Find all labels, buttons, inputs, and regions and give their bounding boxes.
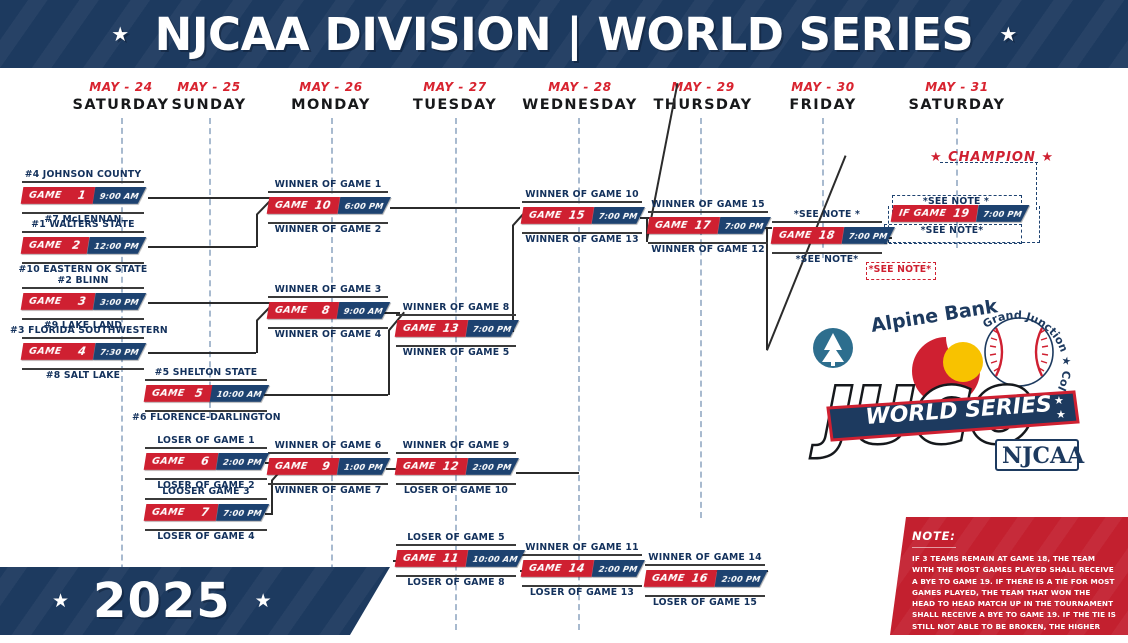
game-4-number: 4 xyxy=(77,345,87,358)
game-9-label: GAME xyxy=(274,461,308,472)
game-13-label: GAME xyxy=(402,323,436,334)
game-7-label: GAME xyxy=(151,507,185,518)
game-3-name: GAME 3 xyxy=(21,293,96,310)
rule-g12-top xyxy=(396,452,516,454)
logo-sponsor-text: Alpine Bank xyxy=(869,300,999,337)
game-16-number: 16 xyxy=(691,572,709,585)
game-12-top-slot: WINNER OF GAME 9 xyxy=(396,440,516,451)
game-6-time: 2:00 PM xyxy=(216,453,269,470)
logo-ribbon-star-1: ★ xyxy=(1054,395,1064,407)
game-8-time: 9:00 AM xyxy=(337,302,391,319)
game-3-time: 3:00 PM xyxy=(93,293,146,310)
game-18-pill[interactable]: GAME 18 7:00 PM xyxy=(771,227,884,244)
game-17-name: GAME 17 xyxy=(647,217,721,234)
game-17-label: GAME xyxy=(654,220,688,231)
game-1-top-slot: #4 JOHNSON COUNTY xyxy=(22,169,144,180)
game-5-bottom-slot: #6 FLORENCE-DARLINGTON xyxy=(132,412,280,423)
connector-v-g8 xyxy=(256,320,258,353)
logo-svg: Alpine Bank Grand Junction ★ Colorado JU… xyxy=(806,300,1096,475)
footer-star-right: ★ xyxy=(255,590,272,613)
game-11-number: 11 xyxy=(442,552,460,565)
game-13-name: GAME 13 xyxy=(395,320,469,337)
game-9-top-slot: WINNER OF GAME 6 xyxy=(268,440,388,451)
game-9-pill[interactable]: GAME 9 1:00 PM xyxy=(267,458,390,475)
game-10-name: GAME 10 xyxy=(267,197,341,214)
game-8-bottom-slot: WINNER OF GAME 4 xyxy=(268,329,388,340)
game-8-label: GAME xyxy=(274,305,308,316)
game-8-number: 8 xyxy=(321,304,331,317)
game-3-pill[interactable]: GAME 3 3:00 PM xyxy=(21,293,146,310)
rule-g17-top xyxy=(648,211,768,213)
page-title-row: ★ NJCAA DIVISION | WORLD SERIES ★ xyxy=(0,0,1128,68)
game-16-top-slot: WINNER OF GAME 14 xyxy=(645,552,765,563)
game-4-pill[interactable]: GAME 4 7:30 PM xyxy=(21,343,146,360)
game-6-label: GAME xyxy=(151,456,185,467)
day-name: FRIDAY xyxy=(748,97,898,113)
game-7-time: 7:00 PM xyxy=(216,504,269,521)
connector-v-g10 xyxy=(256,214,258,247)
rule-g18-top xyxy=(772,221,882,223)
day-date: MAY - 30 xyxy=(748,80,898,94)
day-header-friday-30: MAY - 30 FRIDAY xyxy=(748,80,898,113)
rule-g13-top xyxy=(396,314,516,316)
game-7-top-slot: LOOSER GAME 3 xyxy=(145,486,267,497)
game-17-number: 17 xyxy=(694,219,712,232)
tree-trunk-icon xyxy=(831,360,835,366)
game-2-name: GAME 2 xyxy=(21,237,90,254)
rule-g6-top xyxy=(145,447,267,449)
game-2-label: GAME xyxy=(28,240,62,251)
rule-g3-top xyxy=(22,287,144,289)
game-13-top-slot: WINNER OF GAME 8 xyxy=(396,302,516,313)
game-14-bottom-slot: LOSER OF GAME 13 xyxy=(522,587,642,598)
game-7-name: GAME 7 xyxy=(144,504,219,521)
game-11-label: GAME xyxy=(402,553,436,564)
game-14-label: GAME xyxy=(528,563,562,574)
game-18-number: 18 xyxy=(818,229,836,242)
connector-g10-g15 xyxy=(390,207,520,209)
game-19-name: IF GAME 19 xyxy=(891,205,979,222)
note-body: IF 3 TEAMS REMAIN AT GAME 18, THE TEAM W… xyxy=(912,553,1116,643)
note-box: NOTE: IF 3 TEAMS REMAIN AT GAME 18, THE … xyxy=(890,517,1128,635)
connector-g5-g13 xyxy=(264,394,388,396)
game-6-top-slot: LOSER OF GAME 1 xyxy=(145,435,267,446)
game-17-pill[interactable]: GAME 17 7:00 PM xyxy=(647,217,770,234)
game-12-bottom-slot: LOSER OF GAME 10 xyxy=(396,485,516,496)
game-14-top-slot: WINNER OF GAME 11 xyxy=(522,542,642,553)
day-divider-3 xyxy=(331,118,333,630)
game-12-time: 2:00 PM xyxy=(465,458,518,475)
game-17-time: 7:00 PM xyxy=(717,217,770,234)
rule-g5-top xyxy=(145,379,267,381)
game-19-label: IF GAME xyxy=(898,208,947,219)
game-16-name: GAME 16 xyxy=(644,570,718,587)
connector-g2-g10 xyxy=(148,246,256,248)
game-19-time: 7:00 PM xyxy=(976,205,1029,222)
game-16-time: 2:00 PM xyxy=(714,570,767,587)
rule-g15-top xyxy=(522,201,642,203)
note-title: NOTE: xyxy=(912,529,956,548)
game-8-name: GAME 8 xyxy=(267,302,340,319)
game-2-number: 2 xyxy=(71,239,81,252)
game-13-bottom-slot: WINNER OF GAME 5 xyxy=(396,347,516,358)
game-10-top-slot: WINNER OF GAME 1 xyxy=(268,179,388,190)
day-date: MAY - 31 xyxy=(882,80,1032,94)
page-title: NJCAA DIVISION | WORLD SERIES xyxy=(155,8,974,61)
game-8-top-slot: WINNER OF GAME 3 xyxy=(268,284,388,295)
day-name: SATURDAY xyxy=(882,97,1032,113)
game-12-number: 12 xyxy=(442,460,460,473)
game-13-number: 13 xyxy=(442,322,460,335)
connector-v-g18-lower xyxy=(766,240,768,350)
game-4-time: 7:30 PM xyxy=(93,343,146,360)
game-15-bottom-slot: WINNER OF GAME 13 xyxy=(522,234,642,245)
game-5-time: 10:00 AM xyxy=(210,385,270,402)
game-16-pill[interactable]: GAME 16 2:00 PM xyxy=(644,570,767,587)
game-10-label: GAME xyxy=(274,200,308,211)
game-12-name: GAME 12 xyxy=(395,458,469,475)
game-4-top-slot: #3 FLORIDA SOUTHWESTERN xyxy=(10,325,156,336)
game-12-label: GAME xyxy=(402,461,436,472)
game-10-time: 6:00 PM xyxy=(337,197,390,214)
game-19-pill[interactable]: IF GAME 19 7:00 PM xyxy=(891,205,1022,222)
rule-g4-top xyxy=(22,337,144,339)
star-icon-left: ★ xyxy=(111,24,128,44)
game-2-time: 12:00 PM xyxy=(87,237,146,254)
game-10-number: 10 xyxy=(314,199,332,212)
game-15-time: 7:00 PM xyxy=(591,207,644,224)
game-1-pill[interactable]: GAME 1 9:00 AM xyxy=(21,187,146,204)
rule-g14-top xyxy=(522,554,642,556)
game-18-label: GAME xyxy=(778,230,812,241)
rule-g16-top xyxy=(645,564,765,566)
game-5-name: GAME 5 xyxy=(144,385,213,402)
rule-g8-top xyxy=(268,296,388,298)
game-18-top-slot: *SEE NOTE * xyxy=(772,209,882,220)
game-14-name: GAME 14 xyxy=(521,560,595,577)
game-19-number: 19 xyxy=(952,207,970,220)
game-3-label: GAME xyxy=(28,296,62,307)
game-7-bottom-slot: LOSER OF GAME 4 xyxy=(145,531,267,542)
game-15-pill[interactable]: GAME 15 7:00 PM xyxy=(521,207,644,224)
game-12-pill[interactable]: GAME 12 2:00 PM xyxy=(395,458,518,475)
rule-g7-top xyxy=(145,498,267,500)
rule-g1-top xyxy=(22,181,144,183)
game-1-name: GAME 1 xyxy=(21,187,96,204)
see-note-extra: *SEE NOTE* xyxy=(866,264,934,275)
logo-ribbon-star-2: ★ xyxy=(1056,409,1066,421)
rule-g2-top xyxy=(22,231,144,233)
game-11-top-slot: LOSER OF GAME 5 xyxy=(396,532,516,543)
game-8-pill[interactable]: GAME 8 9:00 AM xyxy=(267,302,390,319)
connector-g4-g8 xyxy=(148,352,256,354)
rule-g10-top xyxy=(268,191,388,193)
game-14-time: 2:00 PM xyxy=(591,560,644,577)
game-2-pill[interactable]: GAME 2 12:00 PM xyxy=(21,237,146,254)
game-16-bottom-slot: LOSER OF GAME 15 xyxy=(645,597,765,608)
game-15-name: GAME 15 xyxy=(521,207,595,224)
champion-dash-v xyxy=(1036,162,1038,210)
rule-g9-top xyxy=(268,452,388,454)
game-3-top-slot: #2 BLINN xyxy=(22,275,144,286)
juco-world-series-logo: Alpine Bank Grand Junction ★ Colorado JU… xyxy=(806,300,1096,475)
connector-g1-g10 xyxy=(148,197,270,199)
game-19-bottom-slot: *SEE NOTE* xyxy=(884,225,1020,236)
game-6-name: GAME 6 xyxy=(144,453,219,470)
connector-v-g13 xyxy=(388,330,390,395)
game-13-time: 7:00 PM xyxy=(465,320,518,337)
game-1-time: 9:00 AM xyxy=(93,187,147,204)
game-1-number: 1 xyxy=(77,189,87,202)
day-divider-6 xyxy=(700,118,702,518)
footer-star-left: ★ xyxy=(52,590,69,613)
champion-label: ★ CHAMPION ★ xyxy=(930,150,1054,165)
game-17-top-slot: WINNER OF GAME 15 xyxy=(648,199,768,210)
game-5-number: 5 xyxy=(194,387,204,400)
game-4-name: GAME 4 xyxy=(21,343,96,360)
game-14-number: 14 xyxy=(568,562,586,575)
game-9-number: 9 xyxy=(321,460,331,473)
header-banner: ★ NJCAA DIVISION | WORLD SERIES ★ xyxy=(0,0,1128,68)
connector-g3-g8 xyxy=(148,302,270,304)
logo-njcaa-text: NJCAA xyxy=(1002,443,1085,469)
game-5-pill[interactable]: GAME 5 10:00 AM xyxy=(144,385,269,402)
game-11-bottom-slot: LOSER OF GAME 8 xyxy=(396,577,516,588)
game-15-top-slot: WINNER OF GAME 10 xyxy=(522,189,642,200)
game-15-label: GAME xyxy=(528,210,562,221)
game-1-label: GAME xyxy=(28,190,62,201)
game-11-pill[interactable]: GAME 11 10:00 AM xyxy=(395,550,518,567)
game-7-pill[interactable]: GAME 7 7:00 PM xyxy=(144,504,269,521)
game-11-time: 10:00 AM xyxy=(465,550,525,567)
game-4-bottom-slot: #8 SALT LAKE xyxy=(22,370,144,381)
game-10-pill[interactable]: GAME 10 6:00 PM xyxy=(267,197,390,214)
star-icon-right: ★ xyxy=(999,24,1016,44)
game-5-top-slot: #5 SHELTON STATE xyxy=(145,367,267,378)
game-18-name: GAME 18 xyxy=(771,227,845,244)
footer-banner: ★ 2025 ★ xyxy=(0,567,390,635)
connector-g12-up xyxy=(516,472,579,474)
game-4-label: GAME xyxy=(28,346,62,357)
game-9-name: GAME 9 xyxy=(267,458,340,475)
game-13-pill[interactable]: GAME 13 7:00 PM xyxy=(395,320,518,337)
game-10-bottom-slot: WINNER OF GAME 2 xyxy=(268,224,388,235)
day-header-saturday-31: MAY - 31 SATURDAY xyxy=(882,80,1032,113)
game-9-time: 1:00 PM xyxy=(337,458,390,475)
game-6-number: 6 xyxy=(200,455,210,468)
game-5-label: GAME xyxy=(151,388,185,399)
game-2-bottom-slot: #10 EASTERN OK STATE xyxy=(14,264,152,275)
rule-g11-top xyxy=(396,544,516,546)
game-17-bottom-slot: WINNER OF GAME 12 xyxy=(648,244,768,255)
game-7-number: 7 xyxy=(200,506,210,519)
game-16-label: GAME xyxy=(651,573,685,584)
game-14-pill[interactable]: GAME 14 2:00 PM xyxy=(521,560,644,577)
game-9-bottom-slot: WINNER OF GAME 7 xyxy=(268,485,388,496)
game-15-number: 15 xyxy=(568,209,586,222)
footer-year: 2025 xyxy=(93,573,231,629)
game-2-top-slot: #1 WALTERS STATE xyxy=(22,219,144,230)
game-3-number: 3 xyxy=(77,295,87,308)
game-6-pill[interactable]: GAME 6 2:00 PM xyxy=(144,453,269,470)
game-11-name: GAME 11 xyxy=(395,550,469,567)
